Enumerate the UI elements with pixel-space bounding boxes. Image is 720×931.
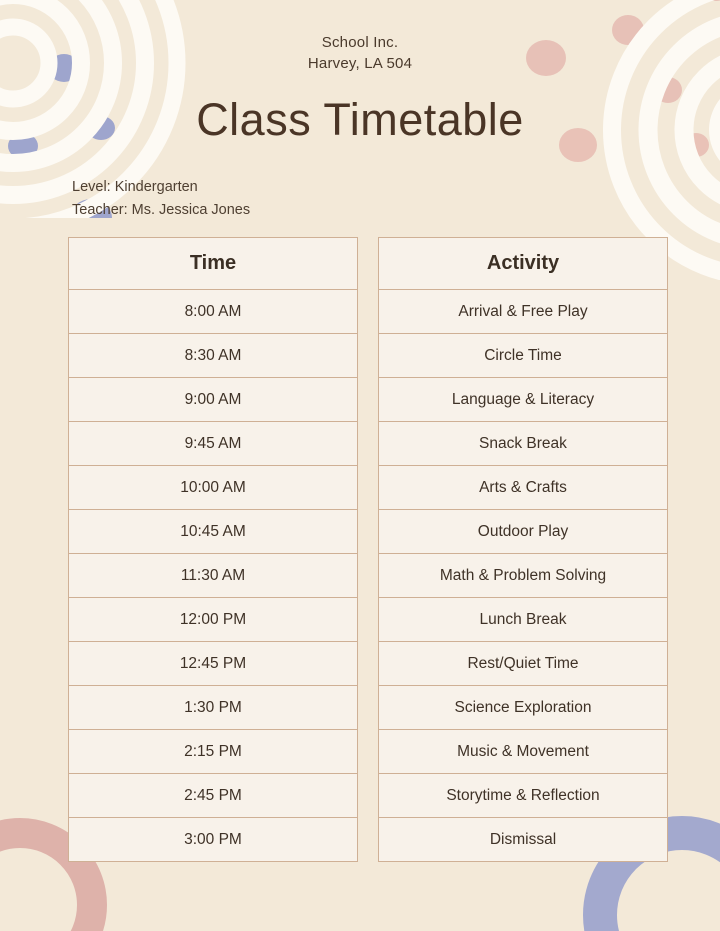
activity-cell: Circle Time [379, 334, 668, 378]
activity-cell: Music & Movement [379, 730, 668, 774]
table-row: 2:15 PM [69, 730, 358, 774]
class-meta-block: Level: Kindergarten Teacher: Ms. Jessica… [72, 176, 250, 222]
table-row: Arrival & Free Play [379, 290, 668, 334]
activity-cell: Arts & Crafts [379, 466, 668, 510]
activity-table-body: Arrival & Free PlayCircle TimeLanguage &… [379, 290, 668, 862]
table-row: Rest/Quiet Time [379, 642, 668, 686]
time-cell: 2:15 PM [69, 730, 358, 774]
activity-table: Activity Arrival & Free PlayCircle TimeL… [378, 237, 668, 862]
table-row: Math & Problem Solving [379, 554, 668, 598]
time-cell: 1:30 PM [69, 686, 358, 730]
table-row: 9:45 AM [69, 422, 358, 466]
time-cell: 2:45 PM [69, 774, 358, 818]
table-row: 12:00 PM [69, 598, 358, 642]
page-title: Class Timetable [0, 94, 720, 146]
level-label: Level: Kindergarten [72, 176, 250, 199]
activity-cell: Storytime & Reflection [379, 774, 668, 818]
table-row: Arts & Crafts [379, 466, 668, 510]
time-table-body: 8:00 AM8:30 AM9:00 AM9:45 AM10:00 AM10:4… [69, 290, 358, 862]
time-cell: 10:00 AM [69, 466, 358, 510]
table-row: 1:30 PM [69, 686, 358, 730]
time-cell: 12:00 PM [69, 598, 358, 642]
time-cell: 11:30 AM [69, 554, 358, 598]
table-row: Snack Break [379, 422, 668, 466]
teacher-label: Teacher: Ms. Jessica Jones [72, 199, 250, 222]
table-row: Science Exploration [379, 686, 668, 730]
activity-cell: Arrival & Free Play [379, 290, 668, 334]
time-table: Time 8:00 AM8:30 AM9:00 AM9:45 AM10:00 A… [68, 237, 358, 862]
time-column: Time 8:00 AM8:30 AM9:00 AM9:45 AM10:00 A… [68, 237, 358, 862]
activity-cell: Language & Literacy [379, 378, 668, 422]
table-row: 3:00 PM [69, 818, 358, 862]
activity-cell: Snack Break [379, 422, 668, 466]
activity-column-header: Activity [379, 238, 668, 290]
activity-cell: Lunch Break [379, 598, 668, 642]
organization-address: Harvey, LA 504 [0, 53, 720, 74]
table-row: Music & Movement [379, 730, 668, 774]
time-cell: 12:45 PM [69, 642, 358, 686]
table-row: 11:30 AM [69, 554, 358, 598]
table-row: Outdoor Play [379, 510, 668, 554]
activity-cell: Dismissal [379, 818, 668, 862]
table-row: Dismissal [379, 818, 668, 862]
activity-column: Activity Arrival & Free PlayCircle TimeL… [378, 237, 668, 862]
table-row: 2:45 PM [69, 774, 358, 818]
table-row: Circle Time [379, 334, 668, 378]
table-row: 9:00 AM [69, 378, 358, 422]
organization-name: School Inc. [0, 32, 720, 53]
time-cell: 3:00 PM [69, 818, 358, 862]
activity-cell: Rest/Quiet Time [379, 642, 668, 686]
timetable-tables: Time 8:00 AM8:30 AM9:00 AM9:45 AM10:00 A… [68, 237, 668, 862]
table-row: 8:30 AM [69, 334, 358, 378]
activity-cell: Outdoor Play [379, 510, 668, 554]
time-header-row: Time [69, 238, 358, 290]
activity-cell: Science Exploration [379, 686, 668, 730]
table-row: 10:00 AM [69, 466, 358, 510]
time-cell: 8:30 AM [69, 334, 358, 378]
table-row: 10:45 AM [69, 510, 358, 554]
timetable-page: School Inc. Harvey, LA 504 Class Timetab… [0, 0, 720, 931]
table-row: Lunch Break [379, 598, 668, 642]
table-row: Storytime & Reflection [379, 774, 668, 818]
time-column-header: Time [69, 238, 358, 290]
table-row: Language & Literacy [379, 378, 668, 422]
time-cell: 9:00 AM [69, 378, 358, 422]
table-row: 12:45 PM [69, 642, 358, 686]
time-cell: 10:45 AM [69, 510, 358, 554]
activity-cell: Math & Problem Solving [379, 554, 668, 598]
activity-header-row: Activity [379, 238, 668, 290]
time-cell: 8:00 AM [69, 290, 358, 334]
organization-block: School Inc. Harvey, LA 504 [0, 32, 720, 74]
table-row: 8:00 AM [69, 290, 358, 334]
time-cell: 9:45 AM [69, 422, 358, 466]
